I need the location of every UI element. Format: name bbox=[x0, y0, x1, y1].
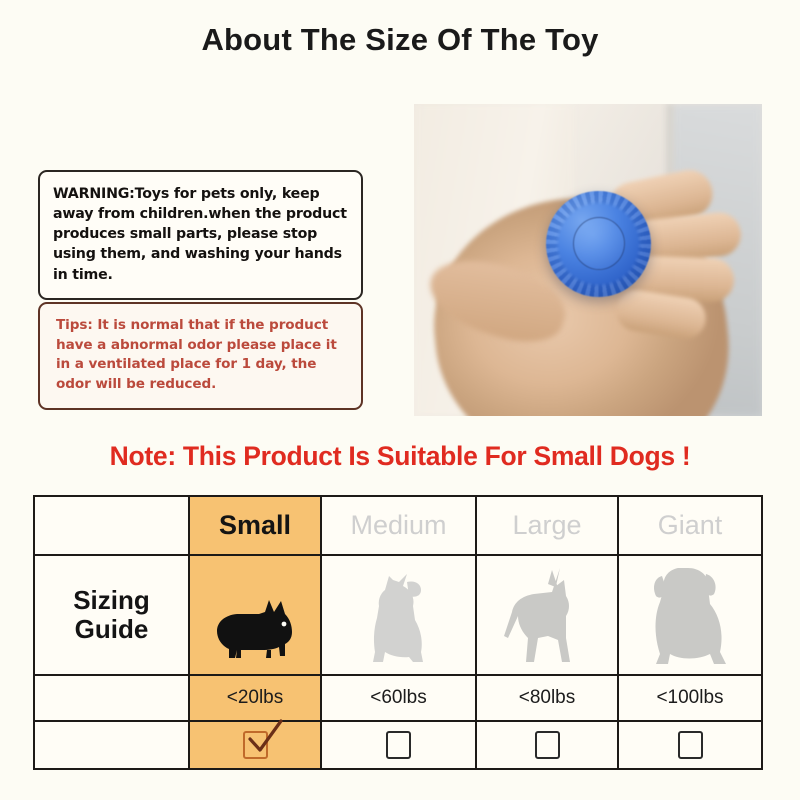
page-title: About The Size Of The Toy bbox=[0, 22, 800, 58]
note-line: Note: This Product Is Suitable For Small… bbox=[0, 441, 800, 472]
table-cell-checkbox-small[interactable] bbox=[189, 721, 321, 769]
table-cell-checkbox-large[interactable] bbox=[476, 721, 618, 769]
corgi-silhouette-icon bbox=[207, 598, 303, 668]
table-row-dog-silhouettes: Sizing Guide bbox=[34, 555, 762, 675]
size-label-medium: Medium bbox=[350, 510, 446, 540]
table-cell-size-large[interactable]: Large bbox=[476, 496, 618, 555]
checkbox-small[interactable] bbox=[243, 731, 268, 759]
table-cell-dog-small[interactable] bbox=[189, 555, 321, 675]
tips-box: Tips: It is normal that if the product h… bbox=[38, 302, 363, 410]
table-cell-weight-large[interactable]: <80lbs bbox=[476, 675, 618, 721]
size-label-large: Large bbox=[512, 510, 581, 540]
table-cell-dog-medium[interactable] bbox=[321, 555, 476, 675]
checkbox-giant[interactable] bbox=[678, 731, 703, 759]
retriever-dog-silhouette-icon bbox=[644, 562, 736, 668]
weight-label-large: <80lbs bbox=[519, 687, 576, 708]
table-row-checkboxes bbox=[34, 721, 762, 769]
checkbox-medium[interactable] bbox=[386, 731, 411, 759]
product-photo bbox=[414, 104, 762, 416]
table-cell-size-medium[interactable]: Medium bbox=[321, 496, 476, 555]
weight-label-medium: <60lbs bbox=[370, 687, 427, 708]
size-label-small: Small bbox=[219, 510, 291, 540]
table-row-size-names: Small Medium Large Giant bbox=[34, 496, 762, 555]
table-cell-dog-large[interactable] bbox=[476, 555, 618, 675]
ball-button-circle bbox=[573, 217, 625, 270]
sizing-guide-label: Sizing Guide bbox=[34, 555, 189, 675]
warning-text: WARNING:Toys for pets only, keep away fr… bbox=[53, 184, 348, 285]
checkbox-large[interactable] bbox=[535, 731, 560, 759]
sizing-guide-line2: Guide bbox=[35, 615, 188, 644]
table-cell-checkbox-giant[interactable] bbox=[618, 721, 762, 769]
table-cell-empty-checkboxes bbox=[34, 721, 189, 769]
table-cell-weight-medium[interactable]: <60lbs bbox=[321, 675, 476, 721]
check-mark-icon bbox=[243, 717, 287, 757]
table-cell-checkbox-medium[interactable] bbox=[321, 721, 476, 769]
tips-text: Tips: It is normal that if the product h… bbox=[56, 316, 348, 395]
shepherd-dog-silhouette-icon bbox=[504, 566, 590, 668]
weight-label-giant: <100lbs bbox=[656, 687, 723, 708]
table-cell-empty-weights bbox=[34, 675, 189, 721]
table-cell-weight-giant[interactable]: <100lbs bbox=[618, 675, 762, 721]
weight-label-small: <20lbs bbox=[227, 687, 284, 708]
sizing-guide-table: Small Medium Large Giant Sizing Guide bbox=[33, 495, 763, 770]
table-cell-size-giant[interactable]: Giant bbox=[618, 496, 762, 555]
table-cell-dog-giant[interactable] bbox=[618, 555, 762, 675]
table-cell-weight-small[interactable]: <20lbs bbox=[189, 675, 321, 721]
table-cell-size-small[interactable]: Small bbox=[189, 496, 321, 555]
table-row-weights: <20lbs <60lbs <80lbs <100lbs bbox=[34, 675, 762, 721]
sitting-dog-silhouette-icon bbox=[363, 572, 435, 668]
sizing-guide-line1: Sizing bbox=[35, 586, 188, 615]
table-cell-empty bbox=[34, 496, 189, 555]
size-label-giant: Giant bbox=[658, 510, 723, 540]
blue-ball-toy bbox=[546, 191, 650, 297]
warning-box: WARNING:Toys for pets only, keep away fr… bbox=[38, 170, 363, 300]
